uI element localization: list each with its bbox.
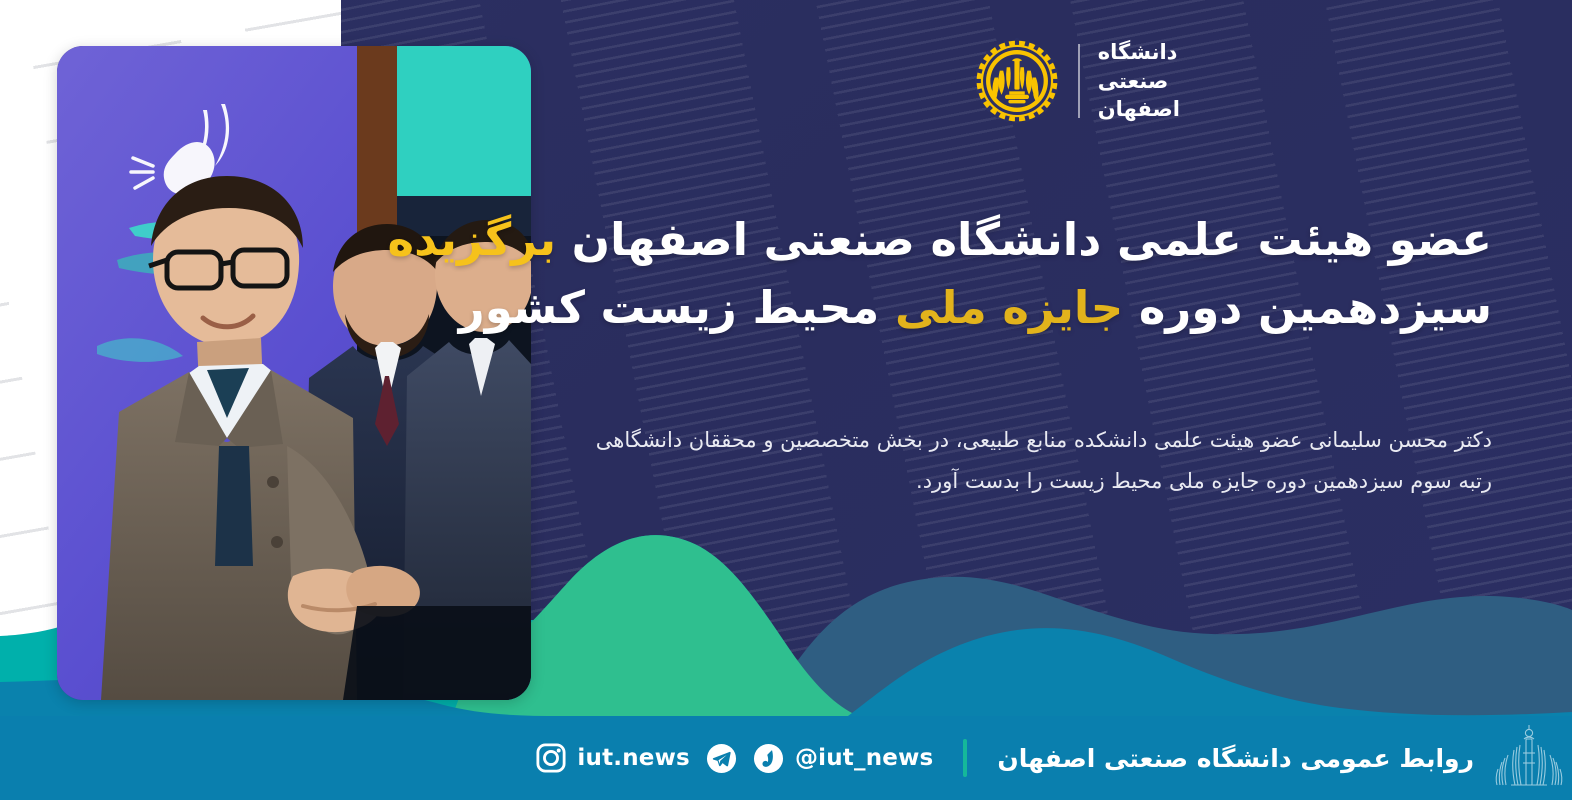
headline-line-2: سیزدهمین دوره جایزه ملی محیط زیست کشور <box>472 274 1492 342</box>
subtitle-line-1: دکتر محسن سلیمانی عضو هیئت علمی دانشکده … <box>472 420 1492 461</box>
page-title: عضو هیئت علمی دانشگاه صنعتی اصفهان برگزی… <box>472 206 1492 343</box>
brand-name-line-3: اصفهان <box>1098 97 1180 122</box>
brand-lockup: دانشگاه صنعتی اصفهان <box>974 38 1180 124</box>
iut-line-emblem-icon <box>1490 723 1568 793</box>
instagram-account[interactable]: iut.news <box>536 743 690 773</box>
eitaa-icon <box>753 743 784 774</box>
brand-name-line-2: صنعتی <box>1098 69 1169 94</box>
instagram-icon <box>536 743 566 773</box>
headline-line-2-text-b: محیط زیست کشور <box>459 281 895 334</box>
headline-line-2-text-a: سیزدهمین دوره <box>1123 281 1492 334</box>
eitaa-account[interactable]: @iut_news <box>753 743 933 774</box>
iut-gear-emblem-icon <box>974 38 1060 124</box>
news-photo <box>57 46 531 700</box>
headline-line-1-text: عضو هیئت علمی دانشگاه صنعتی اصفهان <box>556 213 1492 266</box>
headline-highlight-1: برگزیده <box>388 213 557 266</box>
footer-separator <box>963 739 967 777</box>
messenger-handle: @iut_news <box>795 745 933 771</box>
news-card: دانشگاه صنعتی اصفهان <box>0 0 1572 800</box>
brand-name-line-1: دانشگاه <box>1098 40 1178 65</box>
headline-highlight-2: جایزه ملی <box>895 281 1123 334</box>
brand-name: دانشگاه صنعتی اصفهان <box>1098 40 1180 122</box>
subtitle: دکتر محسن سلیمانی عضو هیئت علمی دانشکده … <box>472 420 1492 502</box>
brand-divider <box>1078 44 1080 118</box>
subtitle-line-2: رتبه سوم سیزدهمین دوره جایزه ملی محیط زی… <box>472 461 1492 502</box>
telegram-icon[interactable] <box>706 743 737 774</box>
footer-bar: iut.news @iut_news روابط عمومی دان <box>0 716 1572 800</box>
footer-content: iut.news @iut_news روابط عمومی دان <box>490 723 1572 793</box>
instagram-handle: iut.news <box>577 745 690 771</box>
public-relations-label: روابط عمومی دانشگاه صنعتی اصفهان <box>997 744 1474 773</box>
headline-line-1: عضو هیئت علمی دانشگاه صنعتی اصفهان برگزی… <box>472 206 1492 274</box>
